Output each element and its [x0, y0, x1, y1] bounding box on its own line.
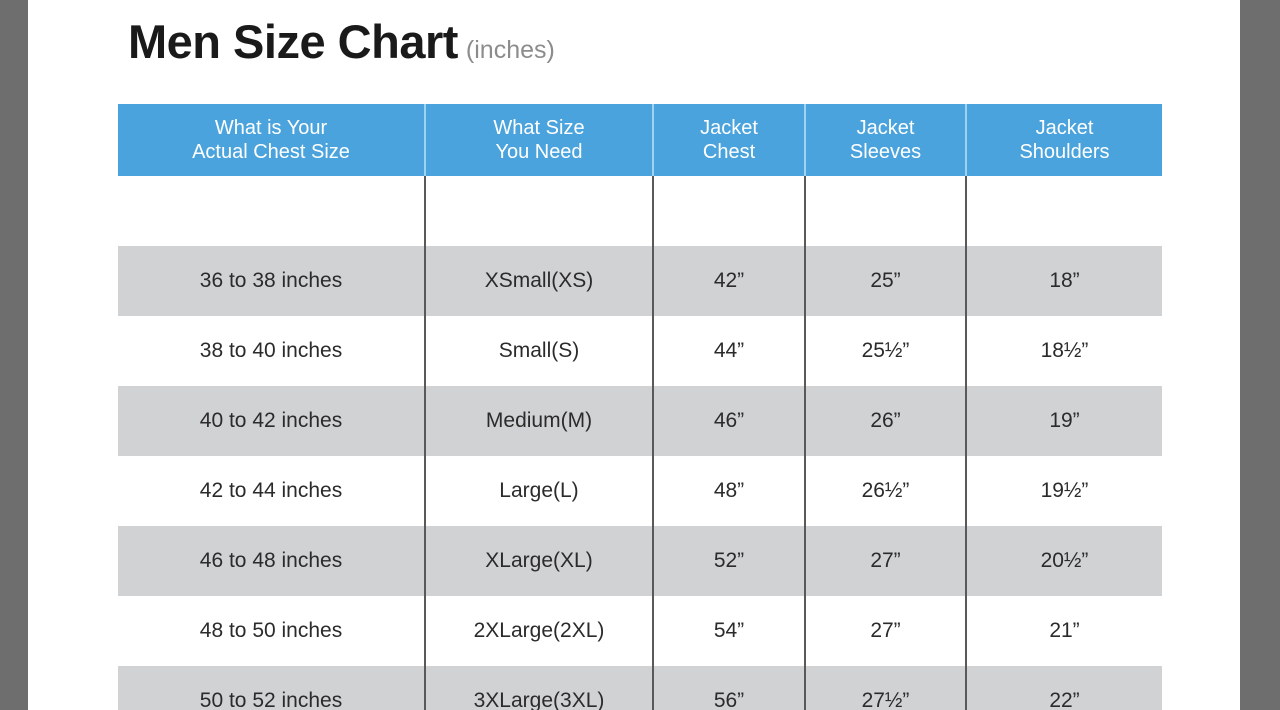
table-row: 38 to 40 inches Small(S) 44” 25½” 18½”	[118, 316, 1162, 386]
table-row: 42 to 44 inches Large(L) 48” 26½” 19½”	[118, 456, 1162, 526]
cell-size-you-need: 2XLarge(2XL)	[425, 596, 653, 666]
column-header-line-1: Jacket	[812, 116, 959, 140]
table-row: 50 to 52 inches 3XLarge(3XL) 56” 27½” 22…	[118, 666, 1162, 710]
cell-jacket-sleeves: 26”	[805, 386, 966, 456]
column-header-size-you-need: What Size You Need	[425, 104, 653, 176]
cell-actual-chest-size: 38 to 40 inches	[118, 316, 425, 386]
column-header-line-1: What is Your	[124, 116, 418, 140]
cell-jacket-sleeves: 26½”	[805, 456, 966, 526]
column-header-line-2: Chest	[660, 140, 798, 164]
cell-jacket-shoulders: 20½”	[966, 526, 1162, 596]
cell-jacket-sleeves: 25”	[805, 246, 966, 316]
table-header-row: What is Your Actual Chest Size What Size…	[118, 104, 1162, 176]
column-header-line-2: Sleeves	[812, 140, 959, 164]
cell-actual-chest-size: 36 to 38 inches	[118, 246, 425, 316]
column-header-line-1: Jacket	[660, 116, 798, 140]
cell-size-you-need: Large(L)	[425, 456, 653, 526]
cell-jacket-chest: 44”	[653, 316, 805, 386]
table-header: What is Your Actual Chest Size What Size…	[118, 104, 1162, 176]
cell-actual-chest-size: 46 to 48 inches	[118, 526, 425, 596]
cell-jacket-shoulders: 19”	[966, 386, 1162, 456]
cell-actual-chest-size: 42 to 44 inches	[118, 456, 425, 526]
cell-jacket-chest: 52”	[653, 526, 805, 596]
cell-actual-chest-size: 48 to 50 inches	[118, 596, 425, 666]
cell-size-you-need: 3XLarge(3XL)	[425, 666, 653, 710]
cell-jacket-shoulders: 22”	[966, 666, 1162, 710]
cell-actual-chest-size: 50 to 52 inches	[118, 666, 425, 710]
table-row: 36 to 38 inches XSmall(XS) 42” 25” 18”	[118, 246, 1162, 316]
cell-jacket-chest: 54”	[653, 596, 805, 666]
column-header-line-1: What Size	[432, 116, 646, 140]
size-chart-table: What is Your Actual Chest Size What Size…	[118, 104, 1162, 710]
letterbox-bar-right	[1240, 0, 1280, 710]
size-chart-slide: Men Size Chart (inches) What is Your Act…	[28, 0, 1240, 710]
column-header-line-1: Jacket	[973, 116, 1156, 140]
cell-jacket-shoulders: 21”	[966, 596, 1162, 666]
cell-jacket-chest: 42”	[653, 246, 805, 316]
header-body-spacer	[118, 176, 1162, 246]
column-header-jacket-shoulders: Jacket Shoulders	[966, 104, 1162, 176]
cell-jacket-chest: 46”	[653, 386, 805, 456]
table-body: 36 to 38 inches XSmall(XS) 42” 25” 18” 3…	[118, 176, 1162, 710]
cell-jacket-sleeves: 27”	[805, 526, 966, 596]
screenshot-root: Men Size Chart (inches) What is Your Act…	[0, 0, 1280, 710]
cell-jacket-chest: 48”	[653, 456, 805, 526]
page-title: Men Size Chart (inches)	[128, 18, 555, 65]
page-title-unit-note: (inches)	[466, 38, 555, 63]
cell-size-you-need: XLarge(XL)	[425, 526, 653, 596]
cell-jacket-sleeves: 25½”	[805, 316, 966, 386]
cell-jacket-shoulders: 19½”	[966, 456, 1162, 526]
cell-jacket-chest: 56”	[653, 666, 805, 710]
column-header-line-2: You Need	[432, 140, 646, 164]
cell-jacket-sleeves: 27”	[805, 596, 966, 666]
cell-jacket-sleeves: 27½”	[805, 666, 966, 710]
table-row: 40 to 42 inches Medium(M) 46” 26” 19”	[118, 386, 1162, 456]
cell-size-you-need: Medium(M)	[425, 386, 653, 456]
cell-jacket-shoulders: 18½”	[966, 316, 1162, 386]
column-header-jacket-chest: Jacket Chest	[653, 104, 805, 176]
page-title-main: Men Size Chart	[128, 18, 458, 65]
cell-actual-chest-size: 40 to 42 inches	[118, 386, 425, 456]
column-header-actual-chest-size: What is Your Actual Chest Size	[118, 104, 425, 176]
letterbox-bar-left	[0, 0, 28, 710]
column-header-jacket-sleeves: Jacket Sleeves	[805, 104, 966, 176]
cell-size-you-need: Small(S)	[425, 316, 653, 386]
cell-jacket-shoulders: 18”	[966, 246, 1162, 316]
column-header-line-2: Actual Chest Size	[124, 140, 418, 164]
table-row: 46 to 48 inches XLarge(XL) 52” 27” 20½”	[118, 526, 1162, 596]
table-row: 48 to 50 inches 2XLarge(2XL) 54” 27” 21”	[118, 596, 1162, 666]
cell-size-you-need: XSmall(XS)	[425, 246, 653, 316]
column-header-line-2: Shoulders	[973, 140, 1156, 164]
